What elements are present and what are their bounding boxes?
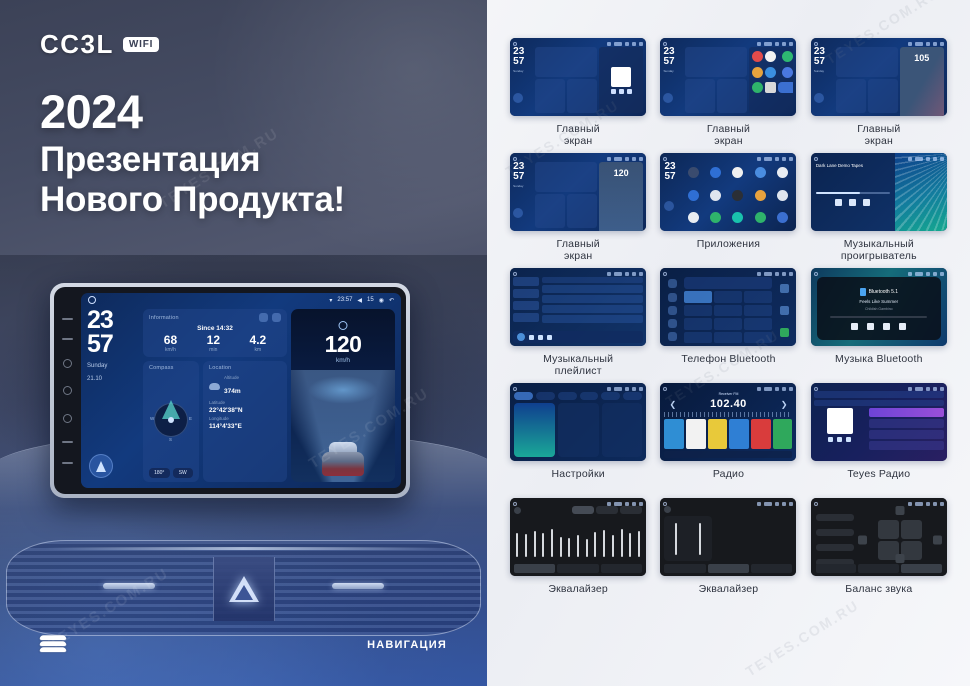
mini-status-bar: [814, 500, 944, 507]
stat-distance: 4.2 km: [250, 334, 267, 353]
next-icon[interactable]: [846, 437, 851, 442]
app-icon-google[interactable]: [688, 212, 699, 223]
app-icon-music-player[interactable]: [732, 212, 743, 223]
screenshot-home-road-red[interactable]: 23 57 Sunday 105: [811, 38, 947, 116]
contacts-icon[interactable]: [668, 293, 677, 302]
nav-item-tracks[interactable]: [513, 277, 539, 286]
app-icon-clock[interactable]: [710, 190, 721, 201]
mini-widget-row: [685, 79, 747, 113]
screenshot-home-media[interactable]: 23 57 Sunday: [510, 38, 646, 116]
app-icon-filemanager[interactable]: [755, 190, 766, 201]
wifi-card[interactable]: [514, 403, 555, 457]
caption-line-2: экран: [557, 250, 600, 262]
dial-key-5[interactable]: [714, 305, 742, 317]
mini-music-layout: Dark Lane Demo Tapes: [811, 153, 947, 231]
frequency-scale[interactable]: [664, 412, 792, 417]
balance-right-button[interactable]: [933, 535, 942, 544]
teyes-station-list[interactable]: [869, 408, 944, 458]
gallery-item[interactable]: Teyes Радио: [810, 383, 948, 492]
caption-line-1: Главный: [557, 123, 600, 135]
refresh-icon[interactable]: [259, 313, 268, 322]
preset-3[interactable]: [708, 419, 728, 449]
tab-equalizer[interactable]: [816, 564, 857, 573]
location-title: Location: [209, 365, 281, 371]
nav-item-albums[interactable]: [513, 289, 539, 298]
app-icon-maps[interactable]: [782, 51, 793, 62]
screenshot-playlist[interactable]: [510, 268, 646, 346]
gallery-item[interactable]: 23 57 Sunday: [509, 38, 647, 147]
preset-6[interactable]: [773, 419, 793, 449]
equalizer-tabs[interactable]: [514, 564, 642, 573]
mini-teyes-layout: [811, 383, 947, 461]
status-icons: [757, 387, 793, 391]
prev-icon[interactable]: [828, 437, 833, 442]
mini-compass-card: [836, 79, 866, 113]
tab-more[interactable]: [623, 392, 642, 400]
eq-band[interactable]: [612, 535, 614, 557]
app-icons[interactable]: [749, 47, 793, 113]
next-station-button[interactable]: ❯: [781, 400, 788, 409]
preset-icon: [514, 507, 521, 514]
screenshot-teyes-radio[interactable]: [811, 383, 947, 461]
mini-playlist-layout: [510, 268, 646, 346]
speaker-front-left: [878, 520, 899, 539]
playlist-row[interactable]: [542, 305, 643, 313]
screenshot-equalizer[interactable]: [510, 498, 646, 576]
back-icon[interactable]: [63, 414, 72, 423]
gallery-caption: Эквалайзер: [548, 583, 608, 607]
dialpad-icon[interactable]: [668, 279, 677, 288]
tab-balance[interactable]: [751, 564, 792, 573]
nav-item-folders[interactable]: [513, 313, 539, 322]
tab-equalizer[interactable]: [514, 564, 555, 573]
status-icons: [757, 157, 793, 161]
preset-4[interactable]: [729, 419, 749, 449]
mini-clock-minutes: 57: [513, 172, 533, 182]
app-icon-youtube[interactable]: [752, 51, 763, 62]
call-icon[interactable]: [780, 328, 789, 337]
headline-year: 2024: [40, 85, 345, 140]
next-icon: [627, 89, 632, 94]
station-row[interactable]: [869, 419, 944, 428]
fader-sliders[interactable]: [664, 516, 712, 561]
mini-status-bar: [513, 155, 643, 162]
mini-location-card: [717, 79, 747, 113]
preset-1[interactable]: [664, 419, 684, 449]
eq-band[interactable]: [594, 532, 596, 558]
dialer[interactable]: [684, 277, 772, 343]
gallery-caption: Телефон Bluetooth: [681, 353, 775, 377]
media-controls[interactable]: [828, 437, 851, 442]
play-pause-icon[interactable]: [867, 323, 874, 330]
caption-line-2: экран: [857, 135, 900, 147]
dial-key-2[interactable]: [714, 291, 742, 303]
balance-pad[interactable]: [858, 506, 942, 573]
dial-key-8[interactable]: [714, 318, 742, 330]
effect-buttons[interactable]: [716, 536, 792, 542]
menu-icon[interactable]: [62, 318, 73, 320]
vent-slider-left: [103, 583, 155, 589]
headline-line-2: Нового Продукта!: [40, 180, 345, 221]
gallery-item[interactable]: 23 57 Sunday: [659, 38, 797, 147]
gallery-item[interactable]: Музыкальный плейлист: [509, 268, 647, 377]
app-icon-play-store[interactable]: [755, 212, 766, 223]
eq-band[interactable]: [551, 529, 553, 558]
screenshot-home-road[interactable]: 23 57 Sunday 120: [510, 153, 646, 231]
eq-band[interactable]: [629, 533, 631, 558]
next-icon[interactable]: [863, 199, 870, 206]
head-unit-bezel: ▾ 23:57 ◀ 15 ◉ ↶ 23 57 Sunday: [54, 287, 406, 494]
stat-avg-speed: 68 km/h: [164, 334, 177, 353]
tab-equalizer[interactable]: [664, 564, 705, 573]
caption-line-1: Музыкальный: [543, 353, 613, 365]
preset-button[interactable]: [620, 506, 642, 514]
station-row[interactable]: [869, 441, 944, 450]
gallery-caption: Главный экран: [557, 123, 600, 147]
mini-information-card: [535, 162, 597, 192]
app-icon-camera[interactable]: [777, 167, 788, 178]
progress-bar[interactable]: [830, 316, 927, 318]
eq-band[interactable]: [534, 531, 536, 557]
clock-day: Sunday: [87, 363, 139, 371]
status-icons: [908, 272, 944, 276]
radio-frequency: 102.40: [710, 398, 747, 410]
screenshot-balance[interactable]: [811, 498, 947, 576]
pause-icon[interactable]: [538, 335, 543, 340]
balance-front-button[interactable]: [895, 506, 904, 515]
eq-band[interactable]: [638, 531, 640, 557]
app-icon-grid[interactable]: [683, 162, 792, 228]
balance-rear-button[interactable]: [895, 554, 904, 563]
tab-system[interactable]: [580, 392, 599, 400]
widgets-column: Information Since 14:32 68: [143, 309, 287, 482]
caption-line-1: Эквалайзер: [699, 583, 759, 595]
speed-widget[interactable]: 120 km/h: [291, 309, 395, 482]
mini-compass-card: [685, 79, 715, 113]
balance-preset[interactable]: [816, 544, 854, 551]
navigation-fab-button[interactable]: [513, 93, 523, 103]
app-icon-play[interactable]: [752, 82, 763, 93]
media-controls[interactable]: [816, 199, 890, 206]
home-icon: [663, 502, 667, 506]
mini-settings-layout: [510, 383, 646, 461]
dial-key-9[interactable]: [744, 318, 772, 330]
head-unit-device: ▾ 23:57 ◀ 15 ◉ ↶ 23 57 Sunday: [50, 283, 410, 498]
equalizer-bands[interactable]: [514, 517, 642, 561]
eq-band[interactable]: [603, 530, 605, 557]
app-icon-gallery[interactable]: [777, 190, 788, 201]
head-unit-screen[interactable]: ▾ 23:57 ◀ 15 ◉ ↶ 23 57 Sunday: [81, 293, 401, 488]
playlist-row[interactable]: [542, 315, 643, 323]
mini-location-card: [567, 194, 597, 228]
volume-down-icon[interactable]: [62, 441, 73, 443]
gallery-item[interactable]: Телефон Bluetooth: [659, 268, 797, 377]
eq-band[interactable]: [516, 533, 518, 558]
media-controls[interactable]: [851, 323, 906, 330]
mini-widget-row: [535, 194, 597, 228]
caption-line-1: Главный: [857, 123, 900, 135]
dial-key-6[interactable]: [744, 305, 772, 317]
dial-pad[interactable]: [684, 291, 772, 343]
pause-icon[interactable]: [849, 199, 856, 206]
layers-icon: [40, 634, 66, 656]
preset-button[interactable]: [596, 506, 618, 514]
gallery-caption: Музыкальный плейлист: [543, 353, 613, 377]
equalizer-tabs[interactable]: [664, 564, 792, 573]
brand-logo: CC3L WIFI: [40, 31, 159, 57]
app-icon-bluetooth[interactable]: [710, 167, 721, 178]
mini-apps-layout: 23 57: [660, 153, 796, 231]
dial-key-star[interactable]: [684, 332, 712, 344]
speaker-front-right: [901, 520, 922, 539]
stat-value: 68: [164, 334, 177, 347]
playlist-row[interactable]: [542, 285, 643, 293]
car-settings-card[interactable]: [558, 403, 599, 457]
screenshot-radio[interactable]: Receiver FM ❮ 102.40 ❯: [660, 383, 796, 461]
phone-number-field[interactable]: [684, 277, 772, 289]
back-icon[interactable]: ↶: [389, 297, 394, 304]
gallery-item[interactable]: 23 57 Sunday 120: [509, 153, 647, 262]
now-playing-bar[interactable]: [513, 331, 643, 343]
mini-speed-widget[interactable]: 120: [599, 162, 643, 231]
prev-icon[interactable]: [851, 323, 858, 330]
information-card[interactable]: Information Since 14:32 68: [143, 309, 287, 357]
prev-icon: [611, 89, 616, 94]
volume-up-icon[interactable]: [62, 462, 73, 464]
mini-clock-day: Sunday: [663, 69, 683, 73]
mute-icon[interactable]: [62, 338, 73, 340]
app-icon-settings[interactable]: [765, 67, 776, 78]
call-history-icon[interactable]: [668, 319, 677, 328]
status-icons: [908, 42, 944, 46]
car-dashboard-illustration: ▾ 23:57 ◀ 15 ◉ ↶ 23 57 Sunday: [0, 255, 487, 686]
gallery-item[interactable]: Bluetooth 5.1 Feels Like Summer Childish…: [810, 268, 948, 377]
expand-icon[interactable]: [272, 313, 281, 322]
dial-key-0[interactable]: [714, 332, 742, 344]
tab-sound[interactable]: [536, 392, 555, 400]
altitude-label: Altitude: [224, 375, 241, 380]
station-row[interactable]: [869, 430, 944, 439]
app-icon-bluetooth-music[interactable]: [732, 167, 743, 178]
tab-effects[interactable]: [858, 564, 899, 573]
stat-unit: km/h: [164, 347, 177, 353]
settings-icon[interactable]: [668, 332, 677, 341]
mini-clock: 23 57: [664, 162, 680, 228]
nav-item-artists[interactable]: [513, 301, 539, 310]
eq-band[interactable]: [586, 539, 588, 557]
backspace-icon[interactable]: [780, 306, 789, 315]
gallery-item[interactable]: 23 57: [659, 153, 797, 262]
tab-balance[interactable]: [901, 564, 942, 573]
equalizer-tabs[interactable]: [816, 564, 942, 573]
fader-slider[interactable]: [675, 523, 677, 555]
camera-icon[interactable]: ◉: [379, 297, 384, 304]
preset-5[interactable]: [751, 419, 771, 449]
equalizer-presets[interactable]: [572, 506, 642, 514]
bluetooth-title-row: Bluetooth 5.1: [860, 288, 898, 296]
prev-icon[interactable]: [529, 335, 534, 340]
altitude-icon: [209, 383, 220, 390]
status-bar: ▾ 23:57 ◀ 15 ◉ ↶: [81, 293, 401, 307]
gallery-item[interactable]: Эквалайзер: [509, 498, 647, 607]
mini-location-card: [868, 79, 898, 113]
station-presets[interactable]: [664, 419, 792, 449]
home-icon: [814, 387, 818, 391]
mini-media-player[interactable]: [599, 47, 643, 113]
app-icon-radio[interactable]: [777, 212, 788, 223]
tab-display[interactable]: [558, 392, 577, 400]
mini-speed-value: 120: [599, 168, 643, 178]
screenshot-music-player[interactable]: Dark Lane Demo Tapes: [811, 153, 947, 231]
navigation-fab-button[interactable]: [89, 454, 113, 478]
phone-actions[interactable]: [775, 277, 793, 343]
tab-about[interactable]: [601, 392, 620, 400]
screenshot-grid: 23 57 Sunday: [509, 38, 948, 613]
screenshot-apps[interactable]: 23 57: [660, 153, 796, 231]
home-icon: [513, 157, 517, 161]
stop-icon[interactable]: [837, 437, 842, 442]
mini-widgets: [685, 47, 747, 113]
fader-slider[interactable]: [699, 523, 701, 555]
favorite-icon[interactable]: [780, 284, 789, 293]
dial-key-3[interactable]: [744, 291, 772, 303]
mini-widget-row: [535, 79, 597, 113]
balance-left-button[interactable]: [858, 535, 867, 544]
tab-wifi[interactable]: [514, 392, 533, 400]
gallery-item[interactable]: Настройки: [509, 383, 647, 492]
search-icon[interactable]: [668, 306, 677, 315]
app-icon-car[interactable]: [688, 167, 699, 178]
power-icon[interactable]: [63, 359, 72, 368]
dial-key-hash[interactable]: [744, 332, 772, 344]
mini-app-drawer[interactable]: [749, 47, 793, 113]
balance-preset[interactable]: [816, 529, 854, 536]
preset-button[interactable]: [572, 506, 594, 514]
app-icon-equalizer[interactable]: [732, 190, 743, 201]
bluetooth-icon: [860, 288, 866, 296]
prev-station-button[interactable]: ❮: [669, 400, 676, 409]
eq-band[interactable]: [621, 529, 623, 557]
phone-nav[interactable]: [663, 277, 681, 343]
app-icon-calculator[interactable]: [755, 167, 766, 178]
app-icon-browser[interactable]: [765, 51, 776, 62]
tab-balance[interactable]: [601, 564, 642, 573]
dial-key-1[interactable]: [684, 291, 712, 303]
mini-home-layout: 23 57 Sunday 120: [510, 153, 646, 231]
eq-band[interactable]: [542, 533, 544, 557]
information-actions[interactable]: [259, 313, 281, 322]
compass-ring: W E S: [154, 403, 188, 437]
dial-key-7[interactable]: [684, 318, 712, 330]
caption-line-2: экран: [707, 135, 750, 147]
navigation-fab-button[interactable]: [814, 93, 824, 103]
screenshot-bluetooth-phone[interactable]: [660, 268, 796, 346]
screenshot-equalizer-2[interactable]: [660, 498, 796, 576]
media-controls[interactable]: [611, 89, 632, 94]
screenshot-home-apps[interactable]: 23 57 Sunday: [660, 38, 796, 116]
app-icon-apps-grid[interactable]: [765, 82, 776, 93]
compass-card[interactable]: Compass W E S: [143, 361, 199, 482]
gallery-item[interactable]: Receiver FM ❮ 102.40 ❯: [659, 383, 797, 492]
eq-band[interactable]: [525, 534, 527, 557]
back-button[interactable]: [664, 201, 674, 211]
compass-readouts: 180° SW: [149, 468, 193, 478]
navigation-fab-button[interactable]: [663, 93, 673, 103]
location-card[interactable]: Location Altitude 374m Latitude: [203, 361, 287, 482]
app-icon-music[interactable]: [782, 67, 793, 78]
caption-line-1: Главный: [707, 123, 750, 135]
mini-home-layout: 23 57 Sunday 105: [811, 38, 947, 116]
mini-speed-widget[interactable]: 105: [900, 47, 944, 116]
tab-effects[interactable]: [708, 564, 749, 573]
gallery-item[interactable]: Баланс звука: [810, 498, 948, 607]
clock-widget[interactable]: 23 57 Sunday 21.10: [87, 309, 139, 482]
radio-toolbar[interactable]: [664, 451, 792, 458]
balance-presets[interactable]: [816, 506, 854, 573]
head-unit-side-buttons[interactable]: [58, 293, 77, 488]
compass-dial: W E S: [149, 373, 193, 466]
gallery-item[interactable]: 23 57 Sunday 105: [810, 38, 948, 147]
altitude-value: 374m: [224, 388, 241, 395]
eq-band[interactable]: [560, 537, 562, 558]
teyes-content: [814, 408, 944, 458]
app-icon-more[interactable]: [778, 82, 793, 93]
gallery-item[interactable]: Эквалайзер: [659, 498, 797, 607]
app-icon-maps[interactable]: [710, 212, 721, 223]
balance-preset[interactable]: [816, 514, 854, 521]
screenshot-settings[interactable]: [510, 383, 646, 461]
home-icon[interactable]: [63, 386, 72, 395]
information-since: Since 14:32: [149, 325, 281, 332]
next-icon[interactable]: [899, 323, 906, 330]
status-icons: [607, 272, 643, 276]
tab-effects[interactable]: [557, 564, 598, 573]
stop-icon[interactable]: [883, 323, 890, 330]
playlist-row[interactable]: [542, 295, 643, 303]
hazard-button[interactable]: [213, 557, 275, 621]
app-icon-chrome[interactable]: [688, 190, 699, 201]
screenshot-bluetooth-music[interactable]: Bluetooth 5.1 Feels Like Summer Childish…: [811, 268, 947, 346]
road-animation: [291, 370, 395, 482]
status-icons: [908, 387, 944, 391]
settings-cards[interactable]: [514, 403, 642, 457]
mini-clock: 23 57 Sunday: [513, 162, 533, 228]
mini-clock-day: Sunday: [814, 69, 834, 73]
status-bar-right: ▾ 23:57 ◀ 15 ◉ ↶: [329, 297, 394, 304]
clock-date: 21.10: [87, 376, 139, 384]
teyes-filter-bar[interactable]: [814, 400, 944, 406]
settings-tabs[interactable]: [514, 392, 642, 400]
app-icon-files[interactable]: [752, 67, 763, 78]
album-art: [517, 333, 525, 341]
misc-card[interactable]: [602, 403, 643, 457]
prev-icon[interactable]: [835, 199, 842, 206]
dial-key-4[interactable]: [684, 305, 712, 317]
home-icon[interactable]: [88, 296, 96, 304]
mini-home-layout: 23 57 Sunday: [510, 38, 646, 116]
gallery-item[interactable]: Dark Lane Demo Tapes Му: [810, 153, 948, 262]
eq-band[interactable]: [568, 538, 570, 557]
home-icon: [663, 387, 667, 391]
preset-2[interactable]: [686, 419, 706, 449]
next-icon[interactable]: [547, 335, 552, 340]
navigation-fab-button[interactable]: [513, 208, 523, 218]
progress-bar[interactable]: [816, 192, 890, 194]
caption-line-2: проигрыватель: [841, 250, 917, 262]
eq-band[interactable]: [577, 535, 579, 557]
teyes-toolbar[interactable]: [814, 391, 944, 398]
station-row[interactable]: [869, 408, 944, 417]
